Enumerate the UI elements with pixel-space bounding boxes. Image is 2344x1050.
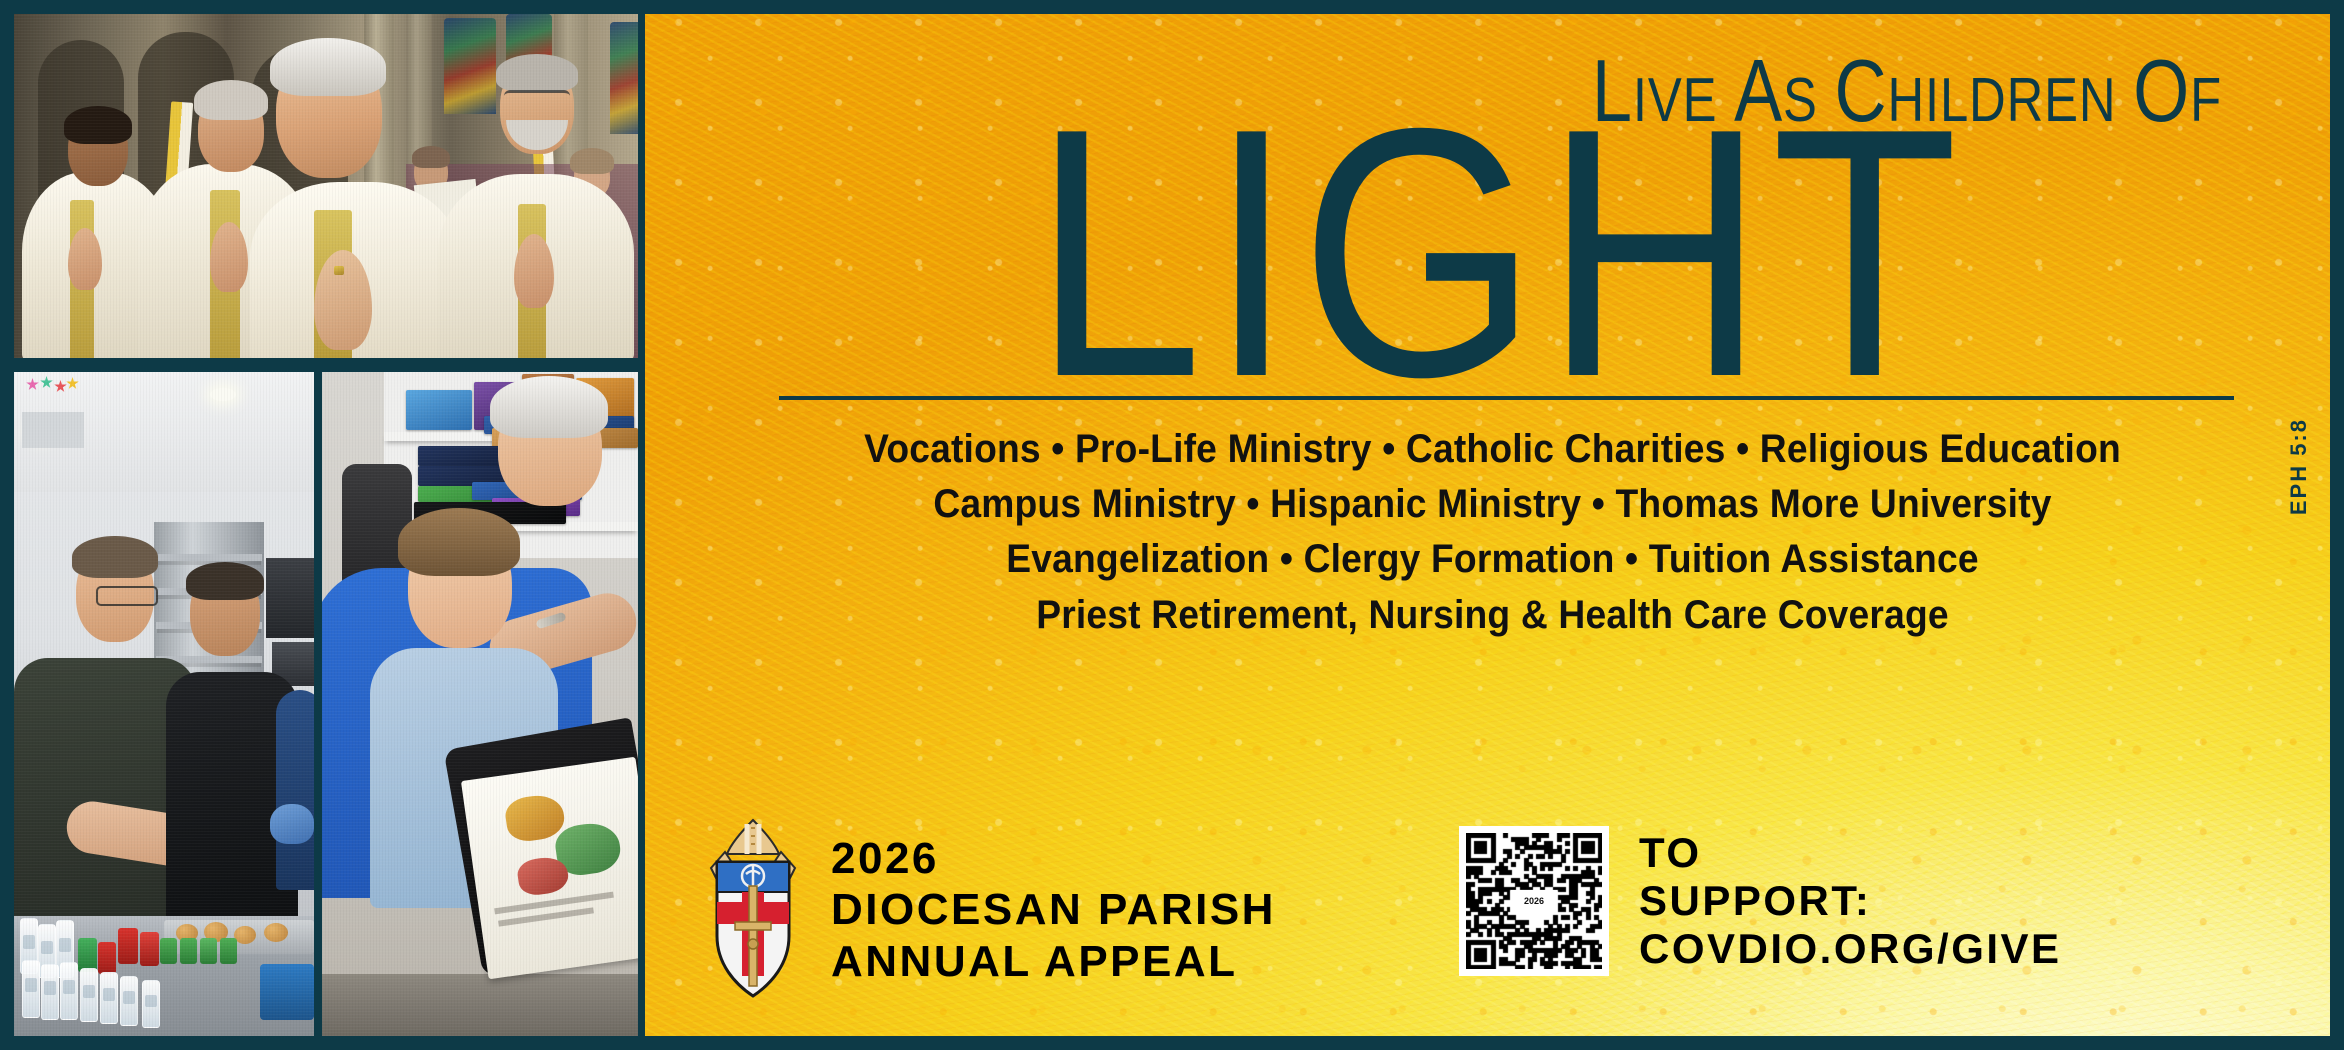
floor-carpet (322, 974, 638, 1036)
donation-qr-block[interactable]: 2026 TO SUPPORT: COVDIO.ORG/GIVE (1459, 826, 2062, 976)
water-bottle (142, 980, 160, 1028)
ministries-line: Vocations • Pro-Life Ministry • Catholic… (769, 422, 2215, 477)
eyeglasses-icon (504, 90, 570, 105)
congregant-hair (570, 148, 614, 174)
photo-collage (14, 14, 638, 1036)
soda-can (200, 938, 217, 964)
water-bottle (120, 976, 138, 1026)
photo-reading-with-child (322, 372, 638, 1036)
stained-glass-window (444, 18, 496, 114)
soda-can (98, 942, 116, 974)
woman-white-hair (490, 376, 608, 438)
soda-can (220, 938, 237, 964)
qr-center-logo: 2026 (1511, 890, 1557, 912)
blue-glove (270, 804, 314, 844)
soda-can (160, 938, 177, 964)
food-item (234, 926, 256, 944)
priest-white-hair (270, 38, 386, 96)
support-call-to-action: TO SUPPORT: COVDIO.ORG/GIVE (1639, 829, 2062, 973)
water-bottle (100, 972, 118, 1024)
diocese-coat-of-arms (701, 818, 805, 1002)
priest-hair (194, 80, 268, 120)
equipment-case (266, 558, 314, 638)
ministries-line: Priest Retirement, Nursing & Health Care… (769, 588, 2215, 643)
appeal-identity: 2026 DIOCESAN PARISH ANNUAL APPEAL (701, 818, 1276, 1002)
board-game-box (406, 390, 472, 430)
soda-can (78, 938, 97, 972)
water-bottle (60, 962, 78, 1020)
appeal-line-1: DIOCESAN PARISH (831, 884, 1276, 935)
boy-hair (398, 508, 520, 576)
appeal-line-2: ANNUAL APPEAL (831, 936, 1276, 987)
soda-can (118, 928, 138, 964)
rack-shelf (156, 554, 262, 561)
scripture-reference: EPH 5:8 (2286, 418, 2312, 515)
episcopal-ring (334, 266, 344, 275)
divider-rule (779, 396, 2234, 400)
food-item (264, 923, 288, 942)
qr-center-label: 2026 (1524, 896, 1544, 906)
priest-hair (64, 106, 132, 144)
support-line-2: SUPPORT: (1639, 877, 2062, 925)
priest-hair (496, 54, 578, 92)
support-line-1: TO (1639, 829, 2062, 877)
volunteer-hair (186, 562, 264, 600)
poster-footer: 2026 DIOCESAN PARISH ANNUAL APPEAL 2026 … (689, 810, 2290, 1010)
photo-clergy (14, 14, 638, 358)
poster-canvas: LIVE AS CHILDREN OF LIGHT EPH 5:8 Vocati… (0, 0, 2344, 1050)
ceiling-light (210, 388, 236, 401)
ministries-line: Campus Ministry • Hispanic Ministry • Th… (769, 477, 2215, 532)
beverage-crate (260, 964, 314, 1020)
congregant-hair (412, 146, 450, 168)
appeal-year: 2026 (831, 833, 1276, 884)
water-bottle (80, 968, 98, 1022)
eyeglasses-icon (96, 586, 158, 606)
volunteer-hair (72, 536, 158, 578)
ministries-list: Vocations • Pro-Life Ministry • Catholic… (715, 422, 2270, 643)
qr-code[interactable]: 2026 (1459, 826, 1609, 976)
ministries-line: Evangelization • Clergy Formation • Tuit… (769, 532, 2215, 587)
water-bottle (22, 960, 40, 1018)
soda-can (180, 938, 197, 964)
support-line-3: COVDIO.ORG/GIVE (1639, 925, 2062, 973)
gold-content-panel: LIVE AS CHILDREN OF LIGHT EPH 5:8 Vocati… (645, 14, 2330, 1036)
photo-kitchen-volunteers (14, 372, 314, 1036)
soda-can (140, 932, 159, 966)
volunteer-shirt (276, 690, 314, 890)
headline-wordmark-light: LIGHT (750, 100, 2246, 404)
stained-glass-window (610, 22, 638, 134)
water-bottle (41, 964, 59, 1020)
appeal-title: 2026 DIOCESAN PARISH ANNUAL APPEAL (831, 833, 1276, 986)
kitchen-hood (22, 412, 84, 448)
